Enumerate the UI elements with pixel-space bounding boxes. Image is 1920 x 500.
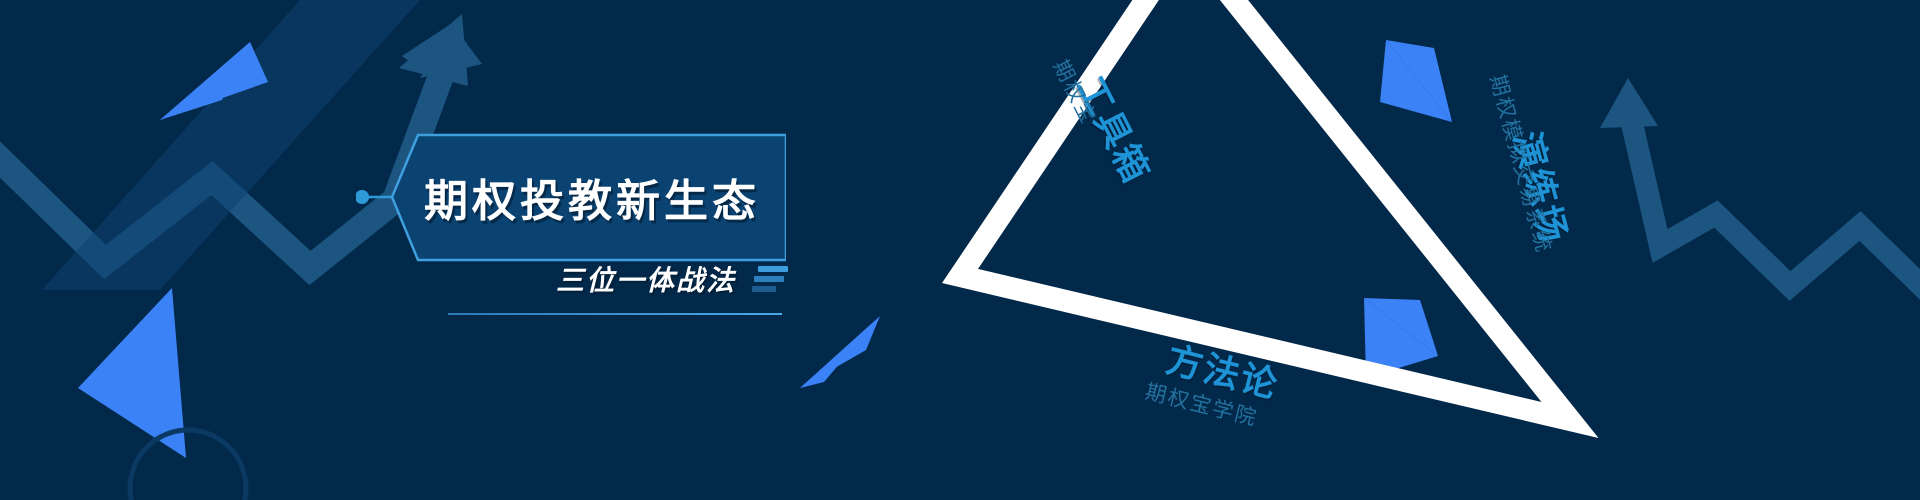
bars-icon: [752, 266, 788, 292]
connector-dot-icon: [356, 190, 369, 204]
background-decor-layer: [0, 0, 1920, 500]
subtitle-block: 三位一体战法: [448, 255, 788, 325]
page-title: 期权投教新生态: [412, 152, 772, 242]
subtitle-divider: [448, 313, 782, 315]
title-frame: 期权投教新生态: [356, 130, 786, 265]
promo-banner: 期权投教新生态 三位一体战法 工具箱 期权宝 演练场 期权模拟交易系统 方法论 …: [0, 0, 1920, 500]
subtitle-text: 三位一体战法: [556, 259, 736, 299]
